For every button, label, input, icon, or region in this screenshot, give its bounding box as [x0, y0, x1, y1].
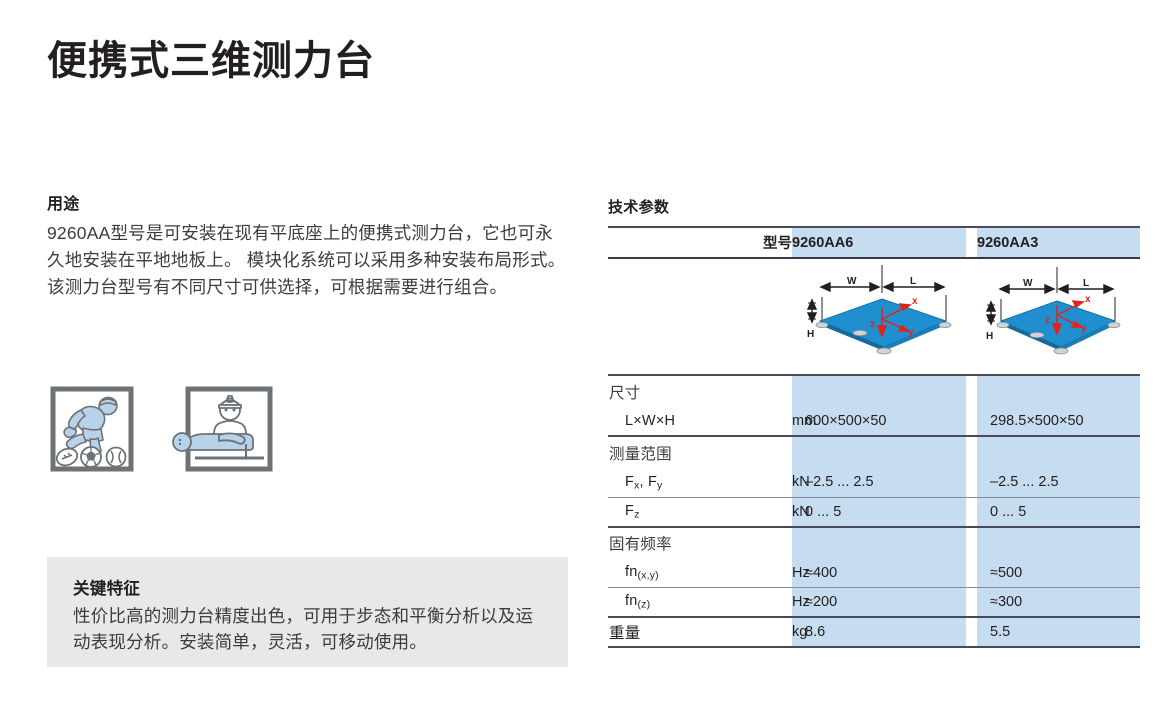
application-icons: [50, 386, 274, 472]
datasheet-page: 便携式三维测力台 用途 9260AA型号是可安装在现有平底座上的便携式测力台，它…: [0, 0, 1156, 701]
row-value-weight-1: 8.6: [792, 618, 966, 647]
row-value-weight-2: 5.5: [977, 618, 1140, 647]
fnz-base: fn: [625, 593, 638, 609]
axis-label-x: x: [912, 296, 918, 307]
row-label-fnz: fn(z): [608, 588, 792, 617]
axis-label-z: z: [870, 319, 875, 330]
product-diagram-row: W L H: [608, 258, 1140, 375]
axis-label-y-2: y: [1081, 323, 1087, 334]
medical-rehabilitation-icon: [172, 386, 274, 472]
tech-spec-section: 技术参数 型号 9260AA6 9260AA3: [608, 196, 1140, 648]
row-value-lwh-1: 600×500×50: [792, 407, 966, 436]
dim-label-w: W: [847, 276, 857, 287]
row-label-fz: Fz: [608, 498, 792, 527]
table-row-weight: 重量 kg 8.6 5.5: [608, 618, 1140, 647]
table-row-fnxy: fn(x,y) Hz ≈400 ≈500: [608, 559, 1140, 588]
axis-label-x-2: x: [1085, 294, 1091, 305]
purpose-section: 用途 9260AA型号是可安装在现有平底座上的便携式测力台，它也可永久地安装在平…: [47, 190, 569, 301]
dim-label-l-2: L: [1083, 278, 1089, 289]
table-row-lwh: L×W×H mm 600×500×50 298.5×500×50: [608, 407, 1140, 436]
row-value-fxfy-2: –2.5 ... 2.5: [977, 468, 1140, 497]
diagram-cell-2: W L H: [977, 258, 1140, 375]
row-value-fz-1: 0 ... 5: [792, 498, 966, 527]
table-header-row: 型号 9260AA6 9260AA3: [608, 227, 1140, 258]
table-bottom-rule: [608, 647, 1140, 648]
fxfy-f1: F: [625, 474, 634, 490]
fxfy-sub2: y: [657, 480, 662, 491]
sports-athletics-icon: [50, 386, 134, 472]
group-row-measuring-range: 测量范围: [608, 437, 1140, 468]
row-label-fnxy: fn(x,y): [608, 559, 792, 588]
group-row-natural-frequency: 固有频率: [608, 528, 1140, 559]
group-label-dimensions: 尺寸: [608, 376, 792, 407]
tech-spec-heading: 技术参数: [608, 196, 1140, 217]
diagram-separator: [966, 258, 977, 375]
fnxy-sub: (x,y): [638, 570, 659, 581]
row-value-fz-2: 0 ... 5: [977, 498, 1140, 527]
model-col-2: 9260AA3: [977, 227, 1140, 258]
row-value-fxfy-1: –2.5 ... 2.5: [792, 468, 966, 497]
row-value-fnz-1: ≈200: [792, 588, 966, 617]
page-title: 便携式三维测力台: [47, 38, 375, 84]
group-label-measuring-range: 测量范围: [608, 437, 792, 468]
key-features-box: 关键特征 性价比高的测力台精度出色，可用于步态和平衡分析以及运动表现分析。安装简…: [47, 557, 568, 667]
column-separator: [966, 227, 977, 258]
table-row-fz: Fz kN 0 ... 5 0 ... 5: [608, 498, 1140, 527]
dim-label-h-2: H: [986, 331, 993, 342]
key-features-text: 性价比高的测力台精度出色，可用于步态和平衡分析以及运动表现分析。安装简单，灵活，…: [73, 603, 542, 656]
diagram-cell-1: W L H: [792, 258, 966, 375]
row-value-fnxy-2: ≈500: [977, 559, 1140, 588]
force-plate-diagram-large: W L H: [794, 259, 964, 369]
row-value-fnxy-1: ≈400: [792, 559, 966, 588]
row-label-weight: 重量: [608, 618, 792, 647]
fnxy-base: fn: [625, 564, 638, 580]
diagram-empty-cell: [608, 258, 792, 375]
purpose-body-text: 9260AA型号是可安装在现有平底座上的便携式测力台，它也可永久地安装在平地地板…: [47, 220, 569, 301]
dim-label-w-2: W: [1023, 278, 1033, 289]
fxfy-f2: , F: [639, 474, 657, 490]
group-label-natural-frequency: 固有频率: [608, 528, 792, 559]
table-row-fnz: fn(z) Hz ≈200 ≈300: [608, 588, 1140, 617]
dim-label-l: L: [910, 276, 916, 287]
group-row-dimensions: 尺寸: [608, 376, 1140, 407]
row-value-fnz-2: ≈300: [977, 588, 1140, 617]
row-label-fxfy: Fx, Fy: [608, 468, 792, 497]
axis-label-y: y: [908, 327, 914, 338]
force-plate-diagram-small: W L H: [979, 259, 1139, 369]
row-label-lwh: L×W×H: [608, 407, 792, 436]
fz-sub: z: [634, 509, 639, 520]
fz-f: F: [625, 503, 634, 519]
key-features-heading: 关键特征: [73, 575, 542, 599]
model-label: 型号: [608, 227, 792, 258]
fnz-sub: (z): [638, 600, 651, 611]
table-row-fxfy: Fx, Fy kN –2.5 ... 2.5 –2.5 ... 2.5: [608, 468, 1140, 497]
model-col-1: 9260AA6: [792, 227, 966, 258]
axis-label-z-2: z: [1045, 315, 1050, 326]
purpose-heading: 用途: [47, 190, 569, 214]
row-value-lwh-2: 298.5×500×50: [977, 407, 1140, 436]
spec-table: 型号 9260AA6 9260AA3: [608, 226, 1140, 648]
dim-label-h: H: [807, 329, 814, 340]
